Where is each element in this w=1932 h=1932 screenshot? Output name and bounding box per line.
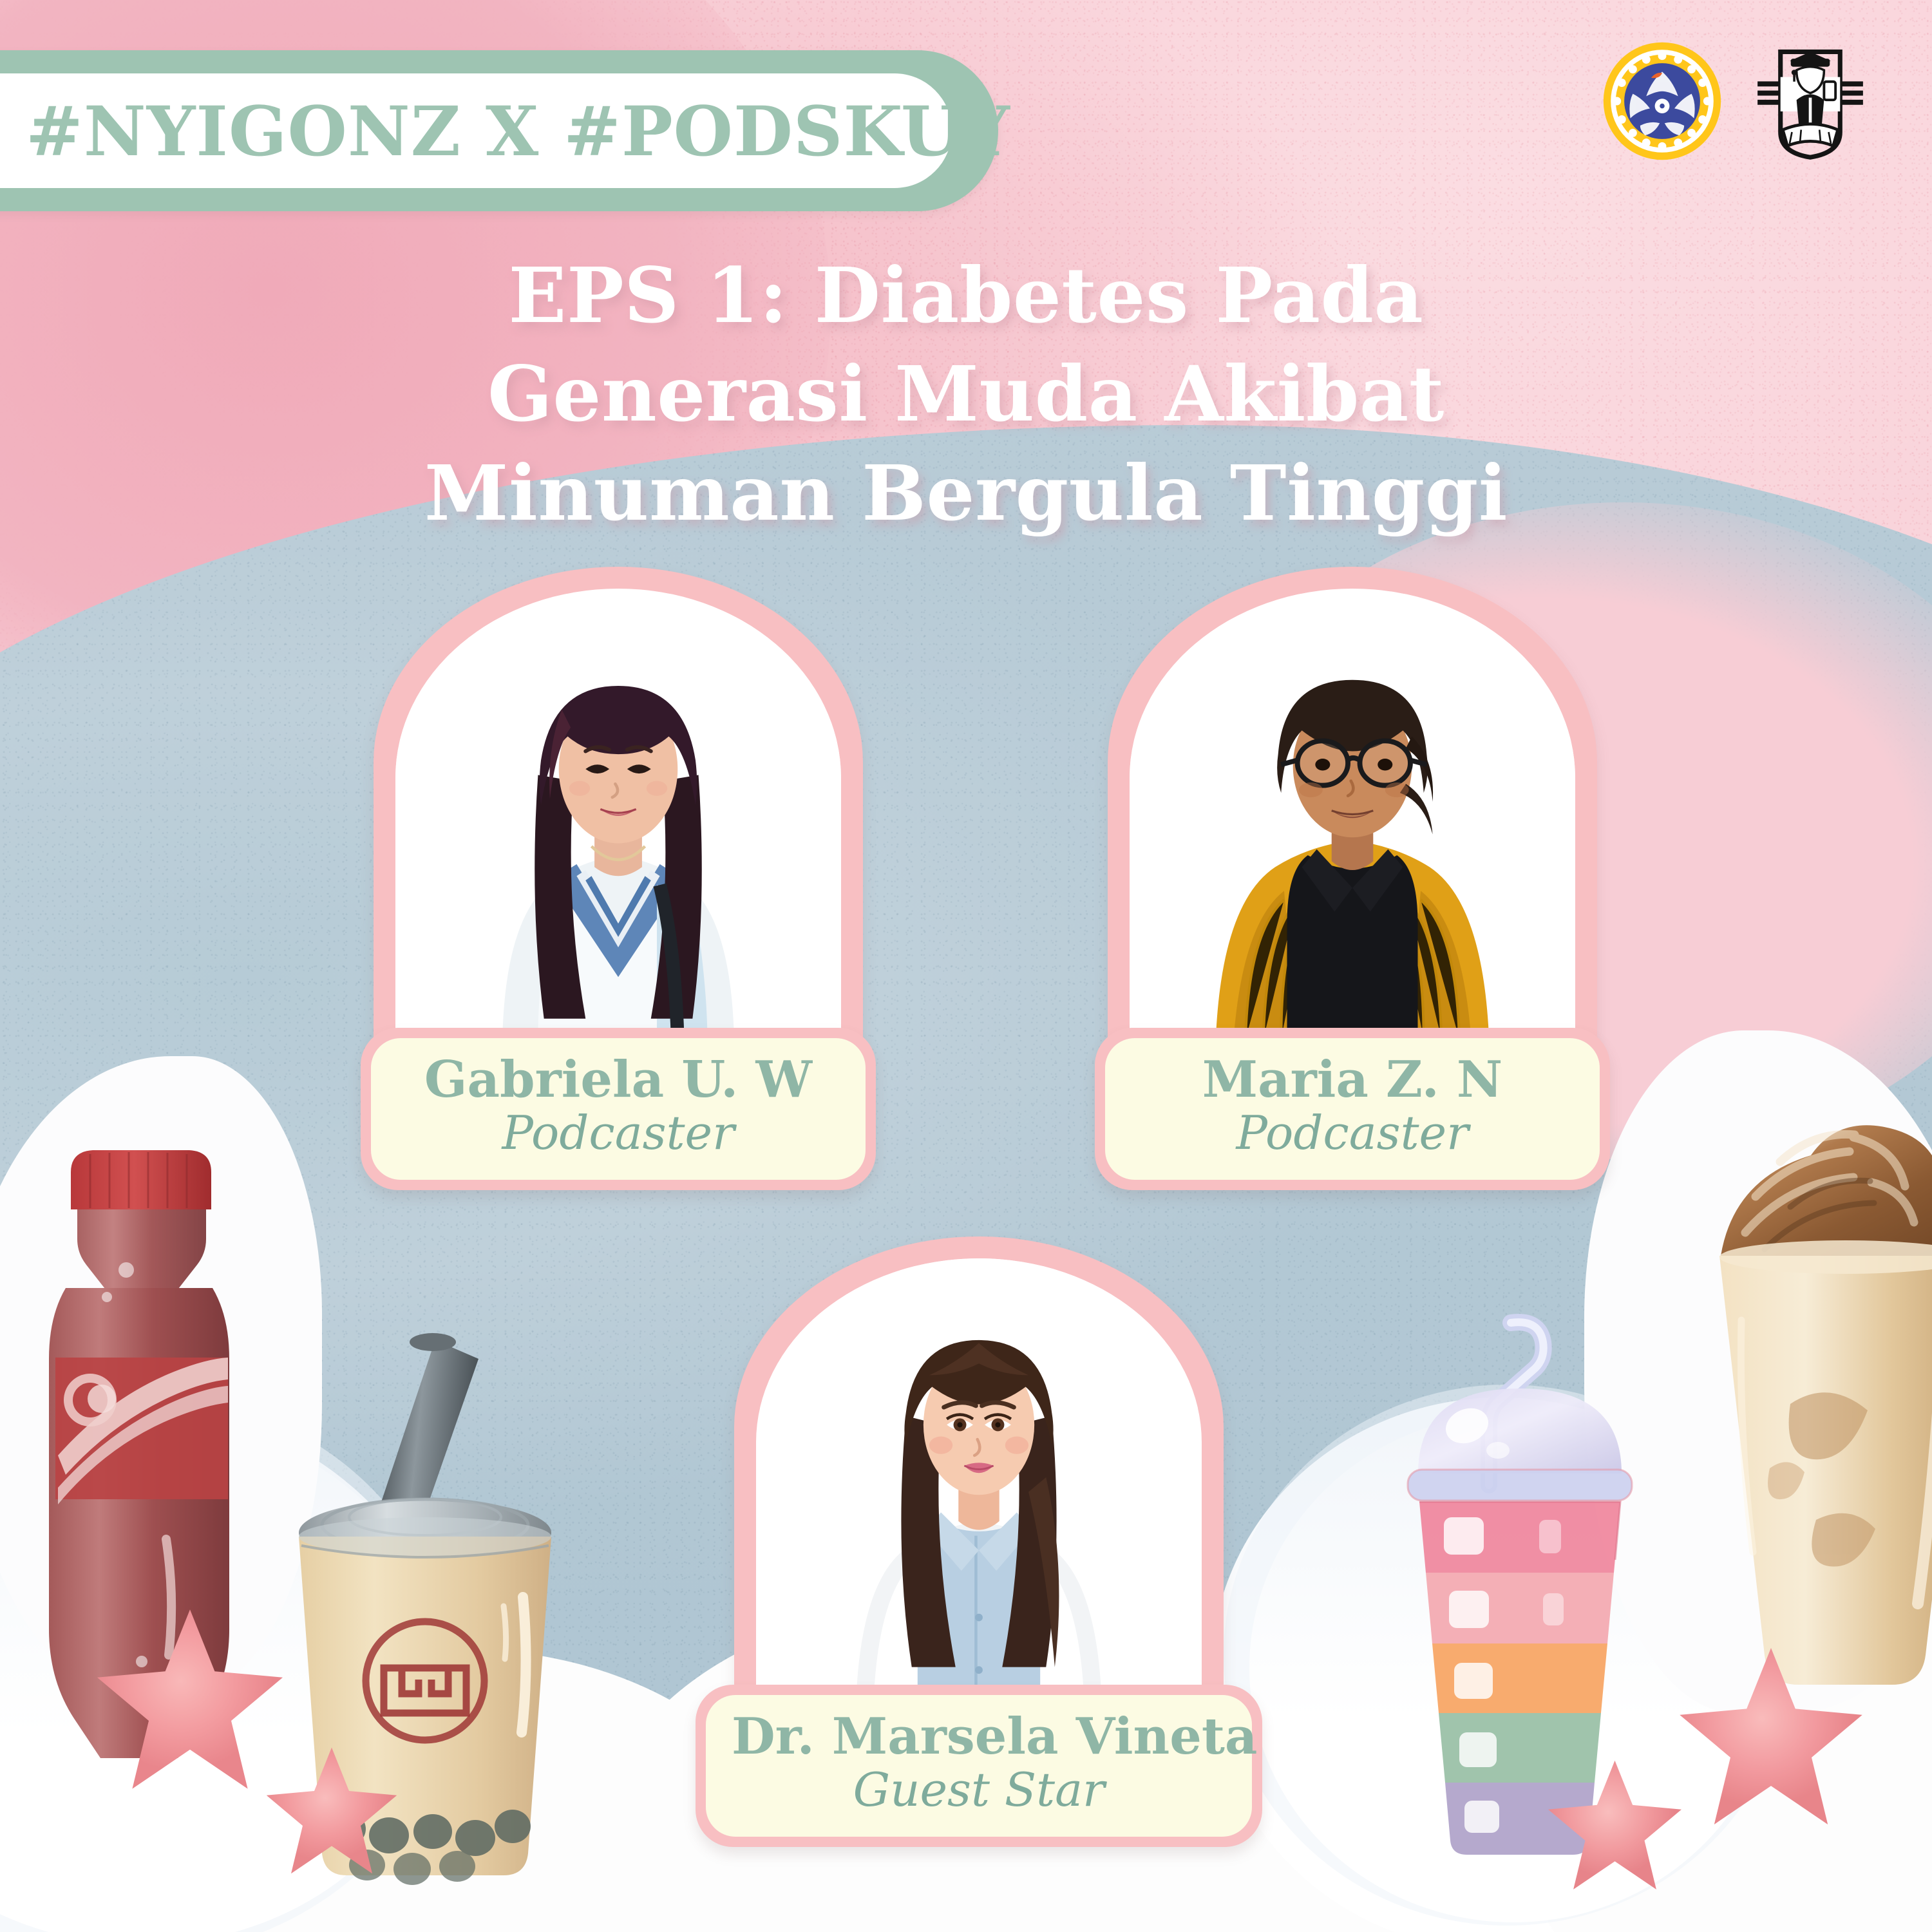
- title-line: Generasi Muda Akibat: [142, 345, 1790, 443]
- page-title: EPS 1: Diabetes Pada Generasi Muda Akiba…: [0, 246, 1932, 542]
- person-name: Maria Z. N: [1131, 1055, 1574, 1105]
- photo-frame: [374, 567, 863, 1056]
- frappe-whipped-cream-illustration: [1694, 1043, 1932, 1719]
- hashtag-banner: #NYIGONZ X #PODSKUY: [0, 50, 998, 211]
- name-card-inner: Maria Z. N Podcaster: [1105, 1038, 1600, 1180]
- logo-group: [1601, 40, 1868, 162]
- name-card: Dr. Marsela Vineta Guest Star: [696, 1685, 1262, 1847]
- photo-frame: [1108, 567, 1597, 1056]
- person-name: Gabriela U. W: [397, 1055, 840, 1105]
- person-role: Podcaster: [1131, 1109, 1574, 1158]
- name-card-inner: Dr. Marsela Vineta Guest Star: [706, 1695, 1252, 1837]
- name-card: Maria Z. N Podcaster: [1095, 1028, 1610, 1190]
- person-card-marsela: Dr. Marsela Vineta Guest Star: [696, 1236, 1262, 1847]
- universitas-airlangga-logo: [1601, 40, 1723, 162]
- title-line: Minuman Bergula Tinggi: [142, 444, 1790, 542]
- graduate-shield-logo: [1753, 40, 1868, 162]
- person-photo-gabriela: [395, 589, 841, 1039]
- hashtag-banner-label: #NYIGONZ X #PODSKUY: [26, 91, 1010, 171]
- pink-star-illustration: [258, 1739, 406, 1884]
- person-card-gabriela: Gabriela U. W Podcaster: [335, 567, 902, 1190]
- person-role: Guest Star: [732, 1766, 1226, 1815]
- podcast-episode-poster: #NYIGONZ X #PODSKUY: [0, 0, 1932, 1932]
- person-name: Dr. Marsela Vineta: [732, 1712, 1226, 1762]
- person-card-maria: Maria Z. N Podcaster: [1069, 567, 1636, 1190]
- title-line: EPS 1: Diabetes Pada: [142, 246, 1790, 345]
- person-photo-marsela: [756, 1258, 1202, 1696]
- name-card-inner: Gabriela U. W Podcaster: [371, 1038, 866, 1180]
- person-role: Podcaster: [397, 1109, 840, 1158]
- pink-star-illustration: [1539, 1752, 1690, 1900]
- name-card: Gabriela U. W Podcaster: [361, 1028, 876, 1190]
- photo-frame: [734, 1236, 1224, 1713]
- person-photo-maria: [1130, 589, 1575, 1039]
- pink-star-illustration: [1668, 1636, 1874, 1839]
- hashtag-banner-inner: #NYIGONZ X #PODSKUY: [0, 73, 952, 188]
